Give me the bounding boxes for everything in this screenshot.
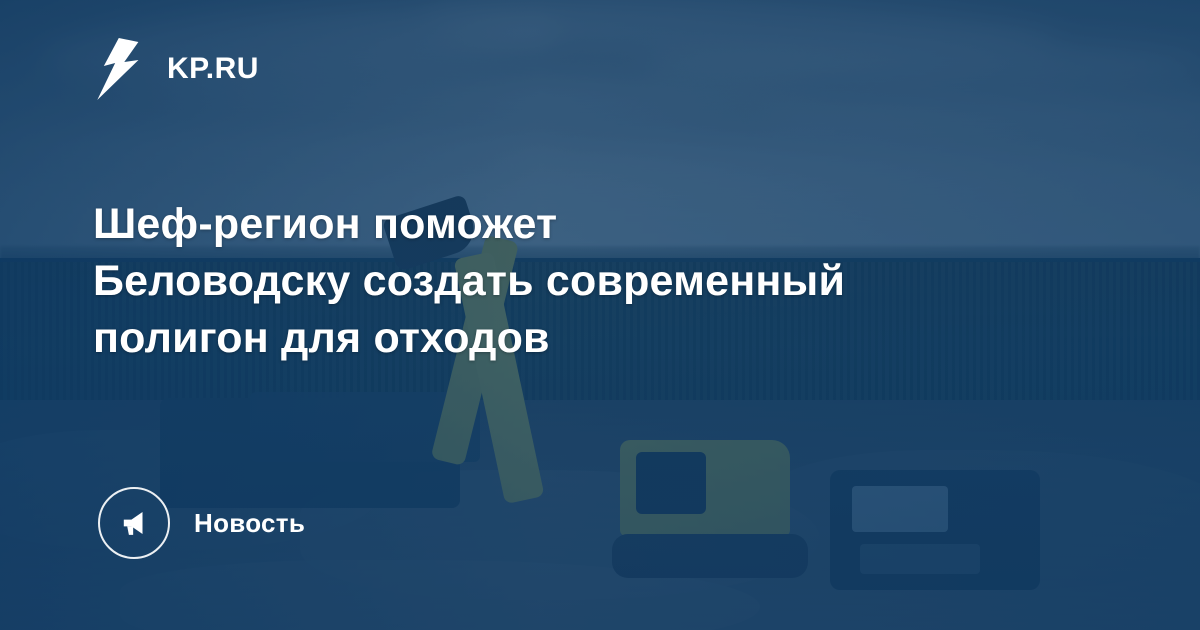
category-label[interactable]: Новость	[98, 487, 305, 559]
megaphone-icon	[98, 487, 170, 559]
headline-line-2: Беловодску создать современный	[93, 253, 1103, 310]
category-label-text: Новость	[194, 508, 305, 539]
social-share-card: KP.RU Шеф-регион поможет Беловодску созд…	[0, 0, 1200, 630]
headline-line-1: Шеф-регион поможет	[93, 196, 1103, 253]
headline-line-3: полигон для отходов	[93, 310, 1103, 367]
page-title: Шеф-регион поможет Беловодску создать со…	[93, 196, 1103, 366]
card-content: KP.RU Шеф-регион поможет Беловодску созд…	[0, 0, 1200, 630]
bird-logo-icon	[93, 36, 151, 102]
brand-name: KP.RU	[167, 54, 259, 84]
brand-lockup[interactable]: KP.RU	[93, 36, 259, 102]
